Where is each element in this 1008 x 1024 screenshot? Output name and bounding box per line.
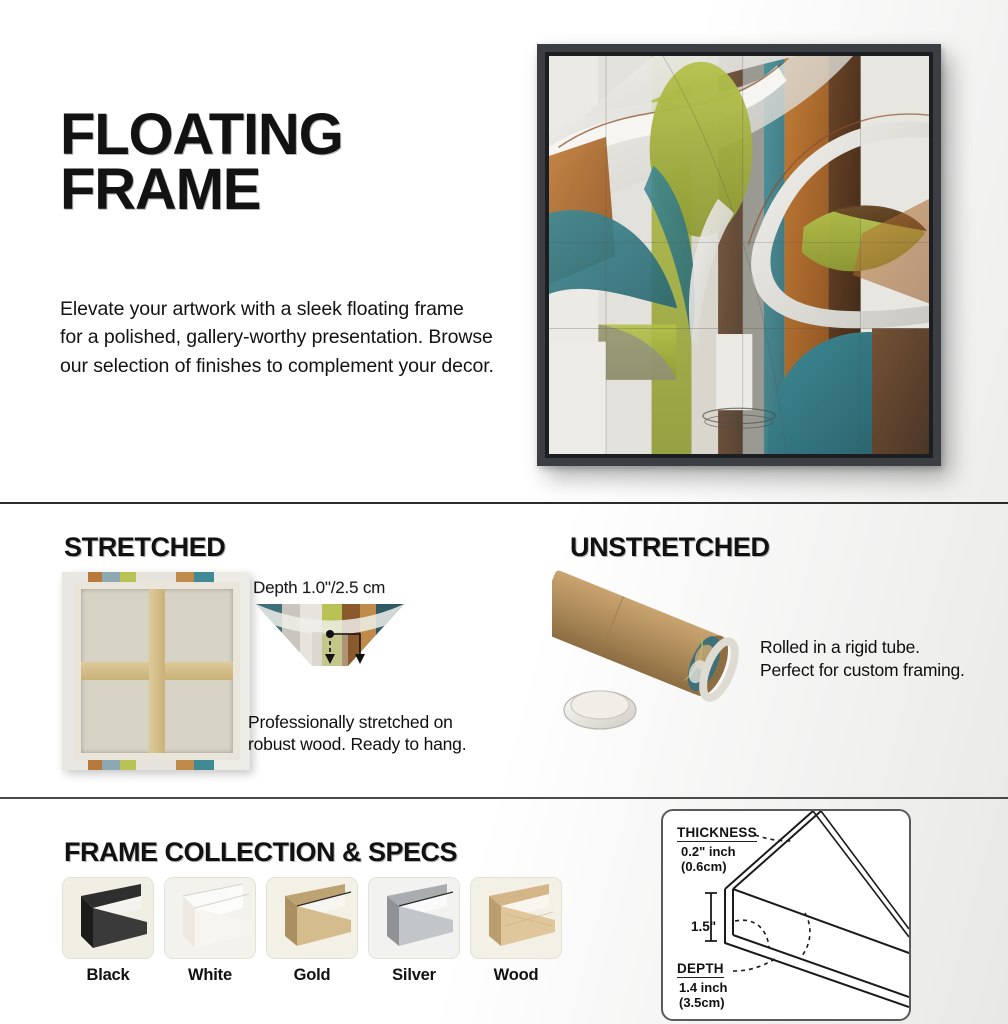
frame-swatch-silver[interactable]: Silver xyxy=(368,877,460,985)
swatch-thumb[interactable] xyxy=(164,877,256,959)
frame-corner-icon xyxy=(267,878,358,959)
abstract-artwork-svg xyxy=(549,56,929,454)
collection-heading: FRAME COLLECTION & SPECS xyxy=(64,837,457,868)
height-value: 1.5" xyxy=(691,919,716,934)
swatch-label: Gold xyxy=(266,966,358,985)
stretched-canvas-back-image xyxy=(62,572,250,770)
swatch-thumb[interactable] xyxy=(368,877,460,959)
swatch-thumb[interactable] xyxy=(266,877,358,959)
hero-text-block: FLOATING FRAME Elevate your artwork with… xyxy=(60,108,520,380)
swatch-label: Silver xyxy=(368,966,460,985)
swatch-label: Wood xyxy=(470,966,562,985)
frame-swatch-wood[interactable]: Wood xyxy=(470,877,562,985)
canvas-corner-detail xyxy=(256,604,404,666)
hero-description: Elevate your artwork with a sleek floati… xyxy=(60,295,520,380)
swatch-thumb[interactable] xyxy=(62,877,154,959)
page-title: FLOATING FRAME xyxy=(60,108,520,217)
corner-detail-svg xyxy=(256,604,404,666)
thickness-heading: THICKNESS xyxy=(677,825,757,842)
stretched-heading: STRETCHED xyxy=(64,532,225,563)
stretched-note: Professionally stretched on robust wood.… xyxy=(248,712,504,756)
swatch-thumb[interactable] xyxy=(470,877,562,959)
frame-swatch-list: Black White xyxy=(62,877,562,985)
thickness-value: 0.2" inch (0.6cm) xyxy=(681,845,736,875)
delivery-options-section: STRETCHED Depth 1.0"/2.5 cm xyxy=(0,504,1008,797)
frame-corner-icon xyxy=(63,878,154,959)
swatch-label: Black xyxy=(62,966,154,985)
frame-corner-icon xyxy=(369,878,460,959)
tube-svg xyxy=(552,570,767,740)
abstract-canvas-image xyxy=(549,56,929,454)
depth-value: 1.4 inch (3.5cm) xyxy=(679,981,727,1011)
shipping-tube-image xyxy=(552,570,767,740)
frame-float-gap xyxy=(545,52,933,458)
depth-label: Depth 1.0"/2.5 cm xyxy=(253,578,385,598)
frame-swatch-black[interactable]: Black xyxy=(62,877,154,985)
swatch-label: White xyxy=(164,966,256,985)
unstretched-heading: UNSTRETCHED xyxy=(570,532,770,563)
unstretched-note: Rolled in a rigid tube. Perfect for cust… xyxy=(760,636,1008,682)
frame-swatch-gold[interactable]: Gold xyxy=(266,877,358,985)
infographic-page: FLOATING FRAME Elevate your artwork with… xyxy=(0,0,1008,1024)
depth-heading: DEPTH xyxy=(677,961,724,978)
stretcher-bar-frame xyxy=(74,582,240,760)
floating-frame-artwork xyxy=(537,44,941,466)
frame-swatch-white[interactable]: White xyxy=(164,877,256,985)
hero-section: FLOATING FRAME Elevate your artwork with… xyxy=(0,0,1008,502)
frame-corner-icon xyxy=(471,878,562,959)
frame-corner-icon xyxy=(165,878,256,959)
frame-spec-diagram: THICKNESS 0.2" inch (0.6cm) 1.5" DEPTH 1… xyxy=(661,809,911,1021)
frame-collection-section: FRAME COLLECTION & SPECS Black xyxy=(0,799,1008,1024)
